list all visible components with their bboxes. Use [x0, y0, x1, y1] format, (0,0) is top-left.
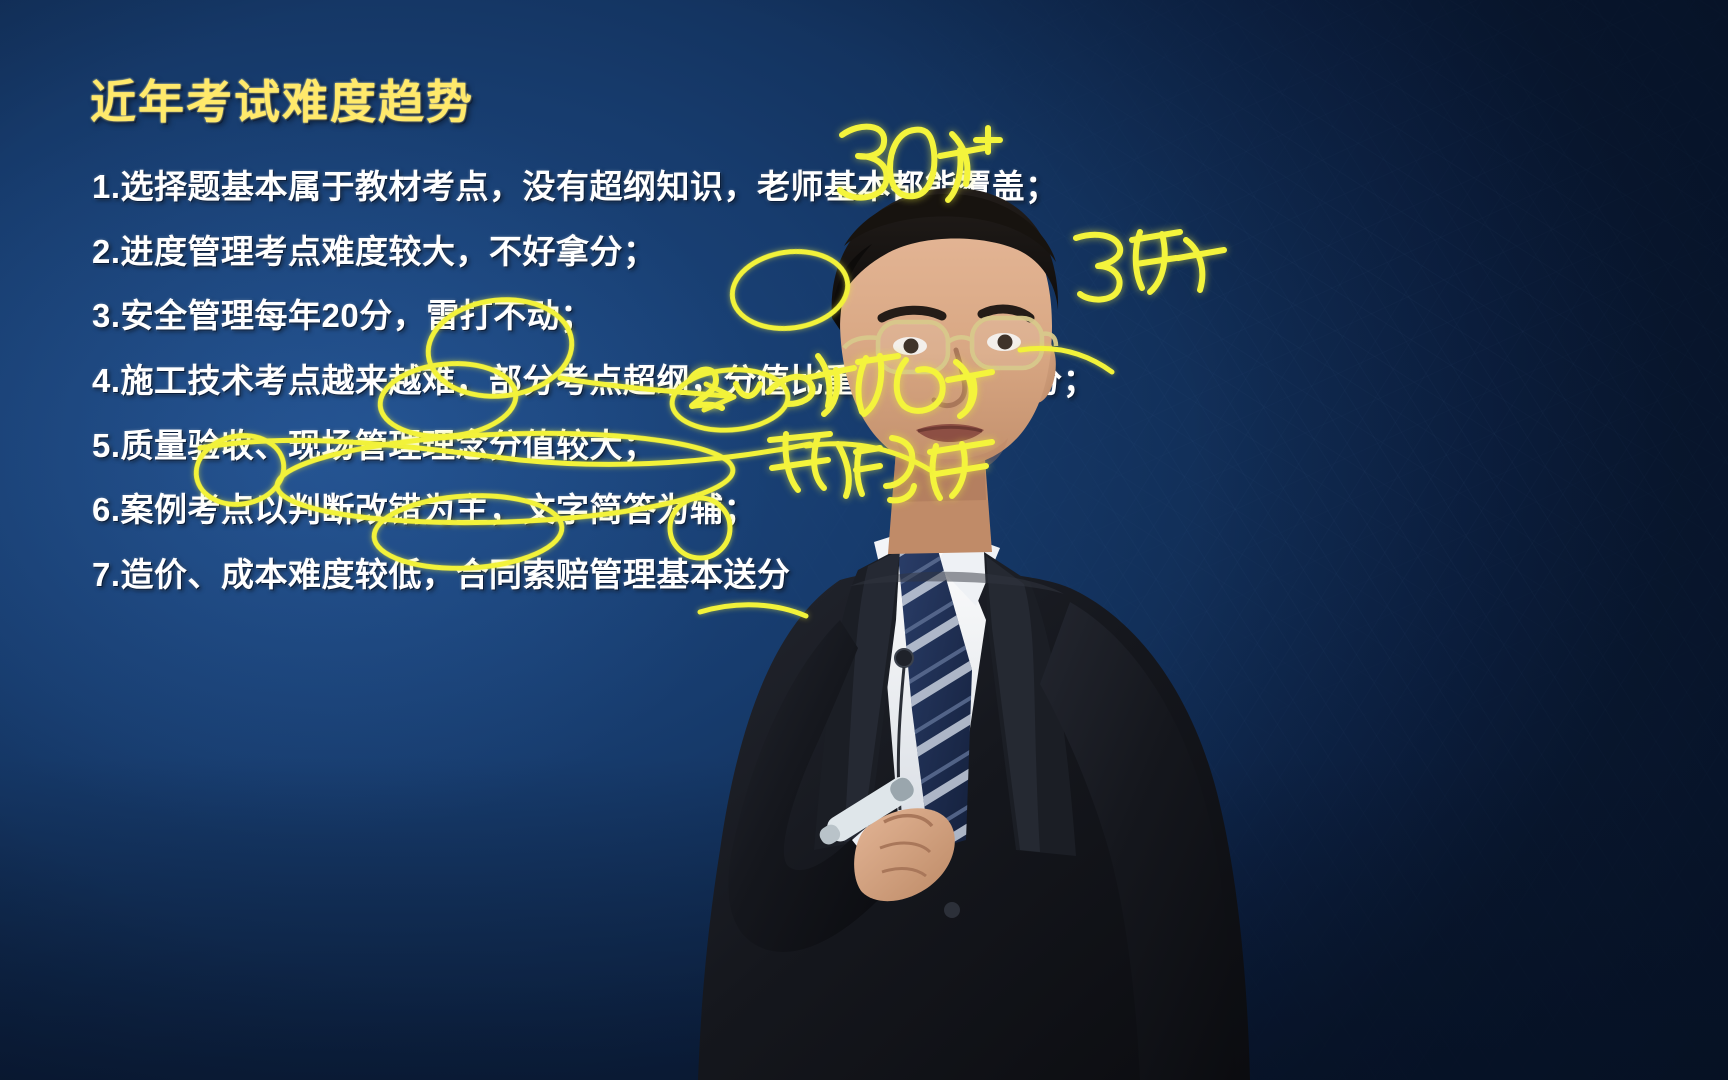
presenter-figure [600, 150, 1360, 1080]
slide-title: 近年考试难度趋势 [90, 66, 474, 132]
video-frame: 近年考试难度趋势 1.选择题基本属于教材考点，没有超纲知识，老师基本都能覆盖； … [0, 0, 1728, 1080]
